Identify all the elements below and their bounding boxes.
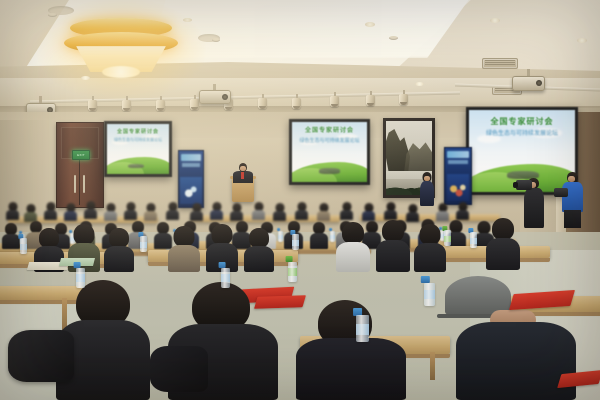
track-spotlight-4 — [190, 95, 199, 111]
track-spotlight-7 — [292, 94, 301, 110]
water-bottle-front-2 — [424, 276, 435, 306]
water-bottle-row3-4 — [444, 226, 451, 246]
water-bottle-row3-1 — [20, 234, 27, 254]
chair-row3-2[interactable] — [130, 244, 164, 272]
video-camera-1 — [516, 180, 532, 190]
water-bottle-row3-5 — [470, 228, 477, 248]
chandelier-bottom-drop — [102, 66, 140, 78]
smoke-detector-3 — [389, 36, 398, 40]
screen-right-title: 全国专家研讨会 — [475, 117, 568, 127]
audience-row3-8 — [376, 220, 410, 272]
projection-screen-center[interactable]: 全国专家研讨会 绿色生态与可持续发展论坛 — [289, 119, 370, 185]
chair-row3-3[interactable] — [300, 240, 334, 268]
audience-front-3-suit — [296, 300, 406, 400]
water-bottle-front-5 — [76, 262, 85, 288]
audience-row3-10 — [486, 218, 520, 270]
presenter-tie — [241, 172, 244, 179]
track-spotlight-3 — [156, 96, 165, 112]
track-spotlight-8 — [330, 92, 339, 108]
screen-left-title: 全国专家研讨会 — [111, 129, 166, 136]
track-spotlight-10 — [399, 90, 408, 106]
ceiling-projector-center — [199, 90, 231, 104]
audience-row3-3 — [104, 228, 134, 272]
ceiling-projector-right — [512, 76, 545, 91]
water-bottle-row3-3 — [292, 230, 299, 250]
chair-row3-4[interactable] — [452, 236, 484, 262]
water-bottle-front-1 — [356, 308, 369, 342]
staff-face-center — [424, 176, 430, 181]
track-spotlight-2 — [122, 96, 131, 112]
draped-coat-2 — [150, 346, 208, 392]
water-bottle-row3-2 — [140, 232, 147, 252]
water-bottle-front-4 — [288, 256, 297, 282]
ceiling-downlight-2 — [183, 18, 192, 22]
screen-center-subtitle: 绿色生态与可持续发展论坛 — [298, 138, 361, 145]
audience-row3-6 — [244, 228, 274, 272]
ceiling-downlight-1 — [81, 76, 90, 80]
projection-screen-left[interactable]: 全国专家研讨会 绿色生态与可持续发展论坛 — [104, 121, 172, 177]
audience-row3-7 — [336, 222, 370, 272]
chandelier — [62, 16, 180, 78]
table-front-leg-2 — [430, 352, 435, 380]
smoke-detector-2 — [212, 38, 220, 42]
water-bottle-mid-6 — [278, 228, 283, 242]
screen-left-subtitle: 绿色生态与可持续发展论坛 — [112, 137, 164, 143]
video-camera-2 — [554, 188, 568, 197]
audience-row3-4 — [168, 226, 200, 272]
screen-right-subtitle: 绿色生态与可持续发展论坛 — [477, 130, 566, 139]
track-spotlight-6 — [258, 94, 267, 110]
ac-grille-1 — [482, 58, 518, 69]
exit-sign-label: EXIT — [73, 151, 89, 159]
screen-center-title: 全国专家研讨会 — [297, 127, 363, 135]
smoke-detector-1 — [48, 13, 57, 17]
draped-coat — [8, 330, 74, 382]
audience-front-3-body — [296, 338, 406, 400]
water-bottle-front-3 — [221, 262, 230, 288]
conference-hall-photo: EXIT 全国专家研讨会 绿色生态与可持续发展论坛 全国专家研讨会 绿色生态与可… — [0, 0, 600, 400]
track-spotlight-9 — [366, 91, 375, 107]
ceiling-downlight-5 — [415, 82, 424, 86]
presenter-face — [240, 166, 246, 171]
ceiling-downlight-3 — [365, 22, 375, 27]
audience-front-4-body — [456, 322, 576, 400]
track-spotlight-1 — [88, 96, 97, 112]
audience-row3-9 — [414, 224, 446, 272]
exit-sign: EXIT — [72, 150, 90, 160]
ceiling-downlight-4 — [490, 18, 500, 23]
ceiling-downlight-6 — [577, 38, 587, 43]
